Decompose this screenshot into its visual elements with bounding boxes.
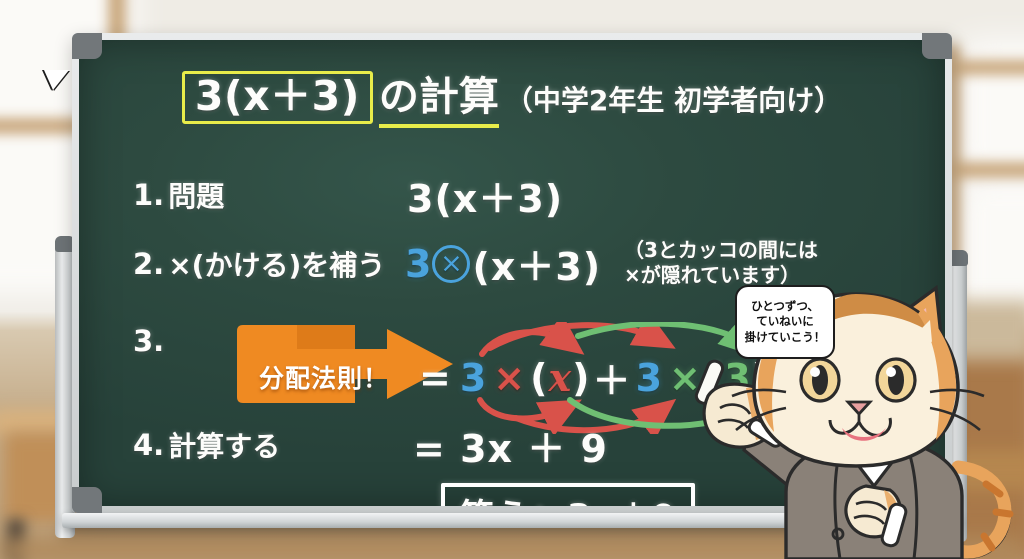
step-1-number: 1. <box>133 178 164 212</box>
multiplication-sign-circled: × <box>432 245 470 283</box>
board-corner-bottom-left <box>72 487 102 513</box>
step-row-1: 1. 問題 <box>133 175 224 215</box>
board-corner-top-left <box>72 33 102 59</box>
speech-bubble-text: ひとつずつ、 ていねいに 掛けていこう！ <box>745 299 826 346</box>
title-main-text: の計算 <box>379 64 499 128</box>
step-row-4: 4. 計算する <box>133 425 280 465</box>
term1-coefficient: 3 <box>460 356 487 400</box>
step-2-number: 2. <box>133 247 164 281</box>
step-1-label: 問題 <box>168 175 224 215</box>
board-corner-top-right <box>922 33 952 59</box>
step-4-expression-wrap: = 3x ＋ 9 <box>413 418 608 473</box>
term1-open-paren: ( <box>530 356 548 400</box>
step-4-number: 4. <box>133 428 164 462</box>
step-2-expression-wrap: 3 × (x＋3) <box>405 236 601 291</box>
step-2-parenthetical: (x＋3) <box>472 236 601 291</box>
term2-coefficient: 3 <box>636 356 663 400</box>
title-boxed-expression: 3(x＋3) <box>182 71 373 124</box>
term1-times-sign: × <box>493 356 526 400</box>
term1-close-paren: ) <box>572 356 590 400</box>
step-3-number: 3. <box>133 324 164 358</box>
answer-text: 答え：3x＋9 <box>459 498 677 506</box>
step-1-expression-wrap: 3(x＋3) <box>407 168 563 223</box>
step-4-label: 計算する <box>168 425 280 465</box>
step-row-2: 2. ×(かける)を補う <box>133 244 385 284</box>
plus-sign: ＋ <box>593 350 632 405</box>
speech-bubble-tail <box>44 70 69 90</box>
step-row-3: 3. <box>133 324 164 358</box>
title-subtitle: （中学2年生 初学者向け） <box>505 79 842 119</box>
step-4-expression: = 3x ＋ 9 <box>413 418 608 473</box>
step-2-coefficient: 3 <box>405 242 432 286</box>
banner-label: 分配法則！ <box>259 359 409 395</box>
answer-box: 答え：3x＋9 <box>441 483 695 506</box>
speech-bubble: ひとつずつ、 ていねいに 掛けていこう！ <box>735 285 835 359</box>
step-2-label: ×(かける)を補う <box>168 244 385 284</box>
lesson-title: 3(x＋3) の計算 （中学2年生 初学者向け） <box>79 64 945 128</box>
equals-sign-1: = <box>419 356 452 400</box>
term1-variable: x <box>549 355 573 400</box>
step-1-expression: 3(x＋3) <box>407 168 563 223</box>
